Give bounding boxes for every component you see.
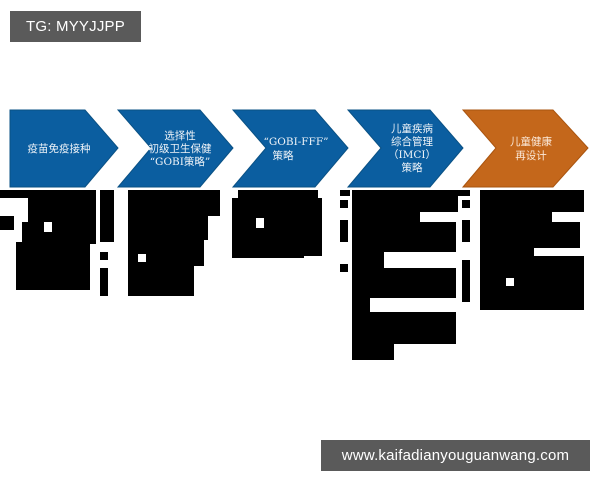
redacted-block [340, 264, 348, 272]
flow-step-5-line-1: 儿童健康 [510, 135, 552, 148]
redacted-block [22, 222, 96, 244]
flow-step-3-line-2: 策略 [273, 149, 294, 162]
redacted-block [128, 214, 208, 240]
flow-step-2-line-2: 初级卫生保健 [149, 142, 212, 155]
redacted-block [340, 200, 348, 208]
redaction-gap [138, 254, 146, 262]
flow-step-2: 选择性 初级卫生保健 “GOBI策略” [118, 110, 233, 187]
flow-step-4: 儿童疾病 综合管理 （IMCI） 策略 [348, 110, 463, 187]
flow-step-5: 儿童健康 再设计 [463, 110, 588, 187]
redacted-block [458, 190, 470, 196]
flow-step-3: “GOBI-FFF” 策略 [233, 110, 348, 187]
redacted-block [100, 268, 108, 296]
redaction-gap [256, 218, 264, 228]
redaction-gap [14, 216, 22, 230]
redacted-block [462, 260, 470, 302]
redacted-block [28, 198, 96, 222]
redacted-block [480, 256, 584, 310]
flow-step-4-line-1: 儿童疾病 [391, 122, 433, 135]
process-flow-diagram: 疫苗免疫接种 选择性 初级卫生保健 “GOBI策略” “GOBI-FFF” 策略… [0, 98, 600, 198]
flow-step-1-line-1: 疫苗免疫接种 [28, 142, 91, 155]
redacted-block [340, 220, 348, 242]
redacted-block [128, 264, 194, 296]
redacted-block [16, 242, 90, 290]
flow-step-5-line-2: 再设计 [515, 149, 547, 162]
redacted-block [100, 190, 114, 242]
flow-step-2-line-3: “GOBI策略” [150, 155, 211, 168]
redacted-block [352, 190, 458, 212]
site-url-watermark-badge: www.kaifadianyouguanwang.com [321, 440, 590, 471]
flow-step-4-line-3: （IMCI） [388, 149, 436, 161]
flow-step-3-shape [233, 110, 348, 187]
flow-step-5-shape [463, 110, 588, 187]
flow-step-1: 疫苗免疫接种 [10, 110, 118, 187]
redacted-block [462, 220, 470, 242]
redacted-block [232, 230, 304, 258]
redaction-gap [44, 222, 52, 232]
redacted-block [340, 190, 350, 196]
redacted-block [0, 190, 96, 198]
flow-step-4-line-2: 综合管理 [391, 135, 433, 148]
redacted-block [352, 248, 384, 270]
redacted-block [462, 200, 470, 208]
telegram-watermark-badge: TG: MYYJJPP [10, 11, 141, 42]
redacted-block [100, 252, 108, 260]
redacted-block [128, 190, 220, 216]
flow-step-2-line-1: 选择性 [164, 129, 196, 142]
redacted-text-region [0, 190, 600, 370]
redacted-block [352, 338, 394, 360]
flow-step-4-line-4: 策略 [402, 161, 423, 174]
flow-step-3-line-1: “GOBI-FFF” [264, 136, 329, 148]
redaction-gap [506, 278, 514, 286]
redacted-block [480, 190, 584, 212]
